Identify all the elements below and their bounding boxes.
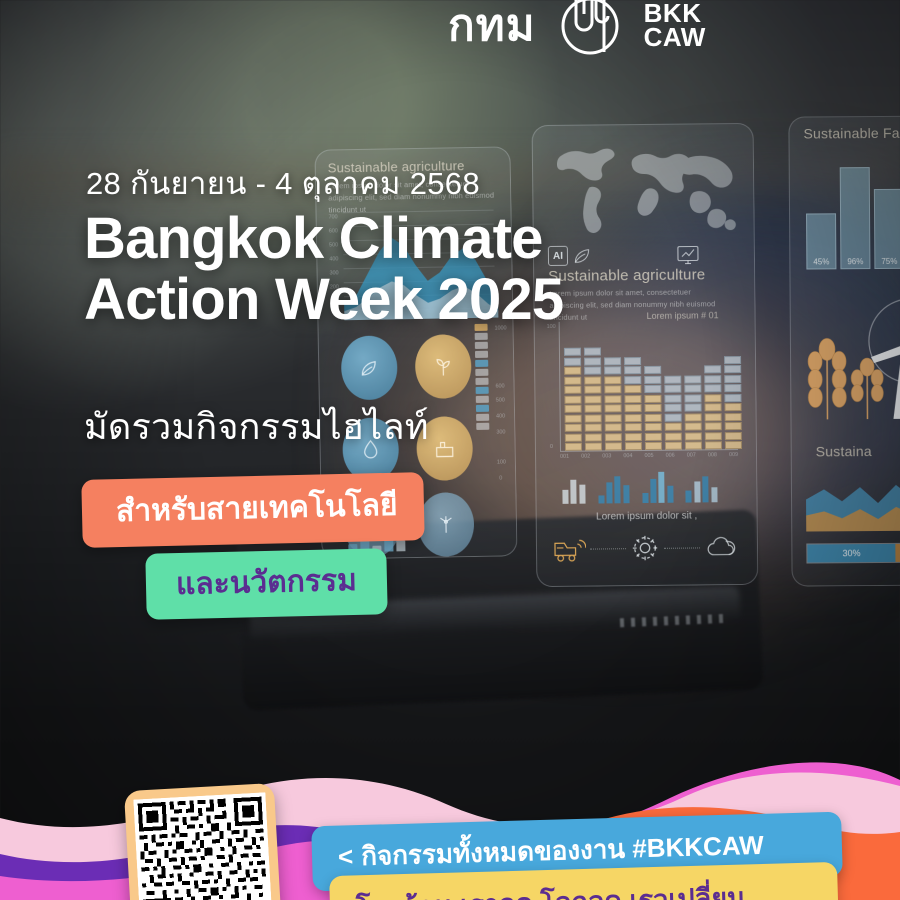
qr-code-card[interactable] bbox=[124, 783, 282, 900]
poster-canvas: Sustainable agriculture Lorem ipsum dolo… bbox=[0, 0, 900, 900]
qr-code[interactable] bbox=[133, 792, 272, 900]
badge-innovation: และนวัตกรรม bbox=[145, 548, 387, 619]
bkkcaw-wordmark: BKK CAW bbox=[644, 2, 706, 50]
badge-technology: สำหรับสายเทคโนโลยี bbox=[81, 472, 424, 548]
bangkok-thai-logo: กทม bbox=[448, 4, 536, 48]
header-logo-group: กทม BKK CAW bbox=[448, 0, 706, 56]
bkkcaw-circle-monogram-icon bbox=[560, 0, 620, 56]
chevron-left-icon: < bbox=[338, 841, 354, 872]
title-line-1: Bangkok Climate bbox=[84, 208, 764, 269]
page-subtitle: มัดรวมกิจกรรมไฮไลท์ bbox=[84, 398, 429, 455]
title-line-2: Action Week 2025 bbox=[84, 269, 764, 330]
caw-text: CAW bbox=[644, 26, 706, 50]
event-date: 28 กันยายน - 4 ตุลาคม 2568 bbox=[86, 158, 480, 208]
page-title: Bangkok Climate Action Week 2025 bbox=[84, 208, 764, 331]
